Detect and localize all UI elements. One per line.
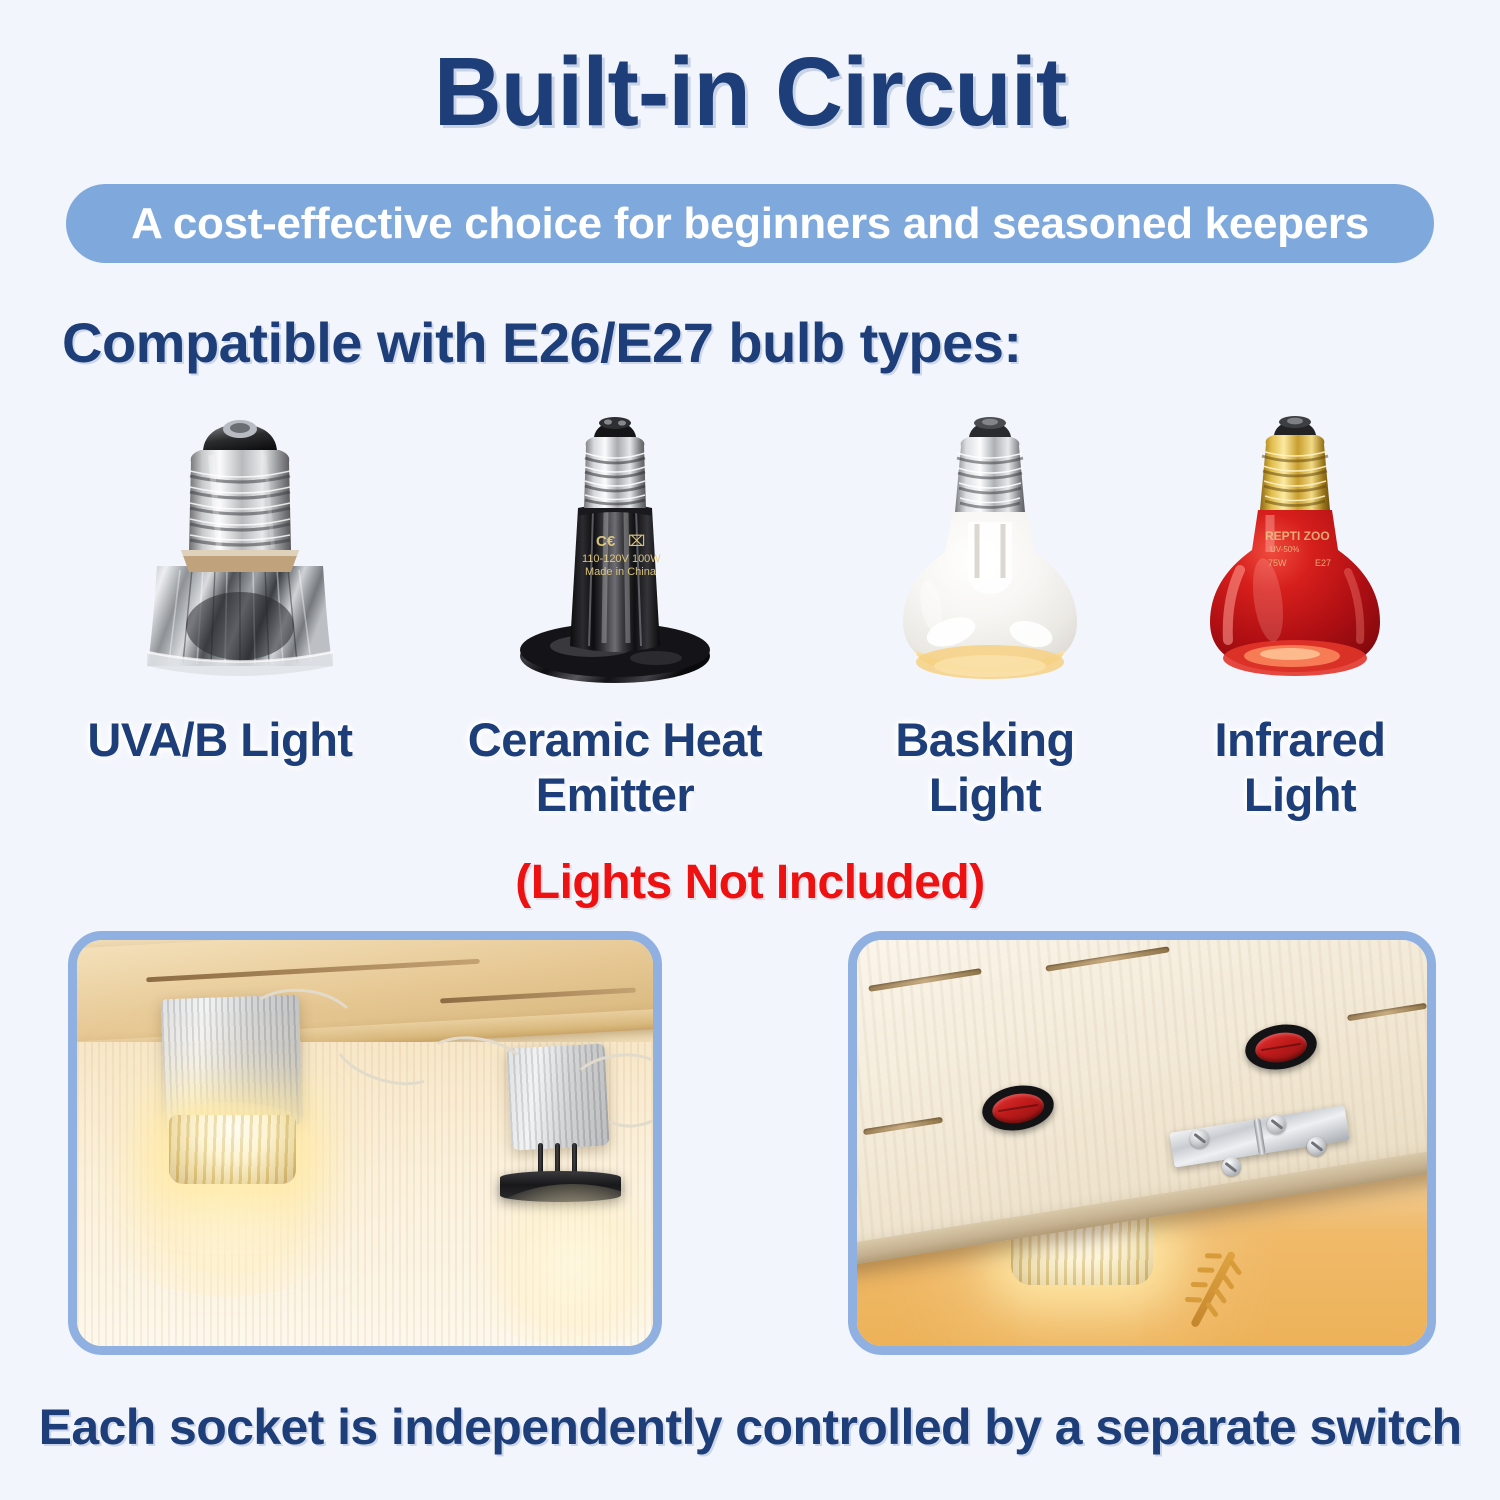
svg-text:Made in China: Made in China (585, 566, 657, 578)
bulb-label-basking-light: Basking Light (845, 712, 1125, 823)
footer-caption: Each socket is independently controlled … (0, 1398, 1500, 1456)
bulb-item-basking-light (835, 400, 1145, 710)
lights-not-included-note: (Lights Not Included) (0, 855, 1500, 910)
bulb-gallery: C€ ⌧ 110-120V 100W Made in China (0, 400, 1500, 710)
svg-text:E27: E27 (1315, 558, 1331, 568)
bulb-label-uva-b: UVA/B Light (45, 712, 395, 767)
page-title: Built-in Circuit (23, 36, 1478, 148)
bulb-label-row: UVA/B Light Ceramic Heat Emitter Basking… (0, 712, 1500, 852)
svg-text:110-120V 100W: 110-120V 100W (582, 553, 661, 565)
compatibility-heading: Compatible with E26/E27 bulb types: (62, 310, 1022, 375)
interior-sockets-photo (68, 931, 662, 1355)
subtitle-text: A cost-effective choice for beginners an… (131, 199, 1369, 249)
bulb-label-infrared-light: Infrared Light (1150, 712, 1450, 823)
svg-text:REPTI ZOO: REPTI ZOO (1265, 529, 1330, 543)
top-panel-switches-photo (848, 931, 1436, 1355)
subtitle-banner: A cost-effective choice for beginners an… (66, 184, 1434, 263)
svg-text:C€: C€ (596, 533, 616, 550)
svg-text:⌧: ⌧ (628, 533, 645, 550)
bulb-item-infrared-light: REPTI ZOO UV-50% 75W E27 (1140, 400, 1450, 710)
bulb-label-ceramic-heat-emitter: Ceramic Heat Emitter (425, 712, 805, 823)
frosted-white-bulb-icon (835, 400, 1145, 710)
svg-text:75W: 75W (1268, 558, 1287, 568)
red-infrared-bulb-icon: REPTI ZOO UV-50% 75W E27 (1140, 400, 1450, 710)
bulb-item-uva-b (85, 400, 395, 710)
bulb-item-ceramic-heat-emitter: C€ ⌧ 110-120V 100W Made in China (460, 400, 770, 710)
chrome-reflector-bulb-icon (85, 400, 395, 710)
svg-text:UV-50%: UV-50% (1270, 545, 1299, 554)
black-ceramic-emitter-icon: C€ ⌧ 110-120V 100W Made in China (460, 400, 770, 710)
